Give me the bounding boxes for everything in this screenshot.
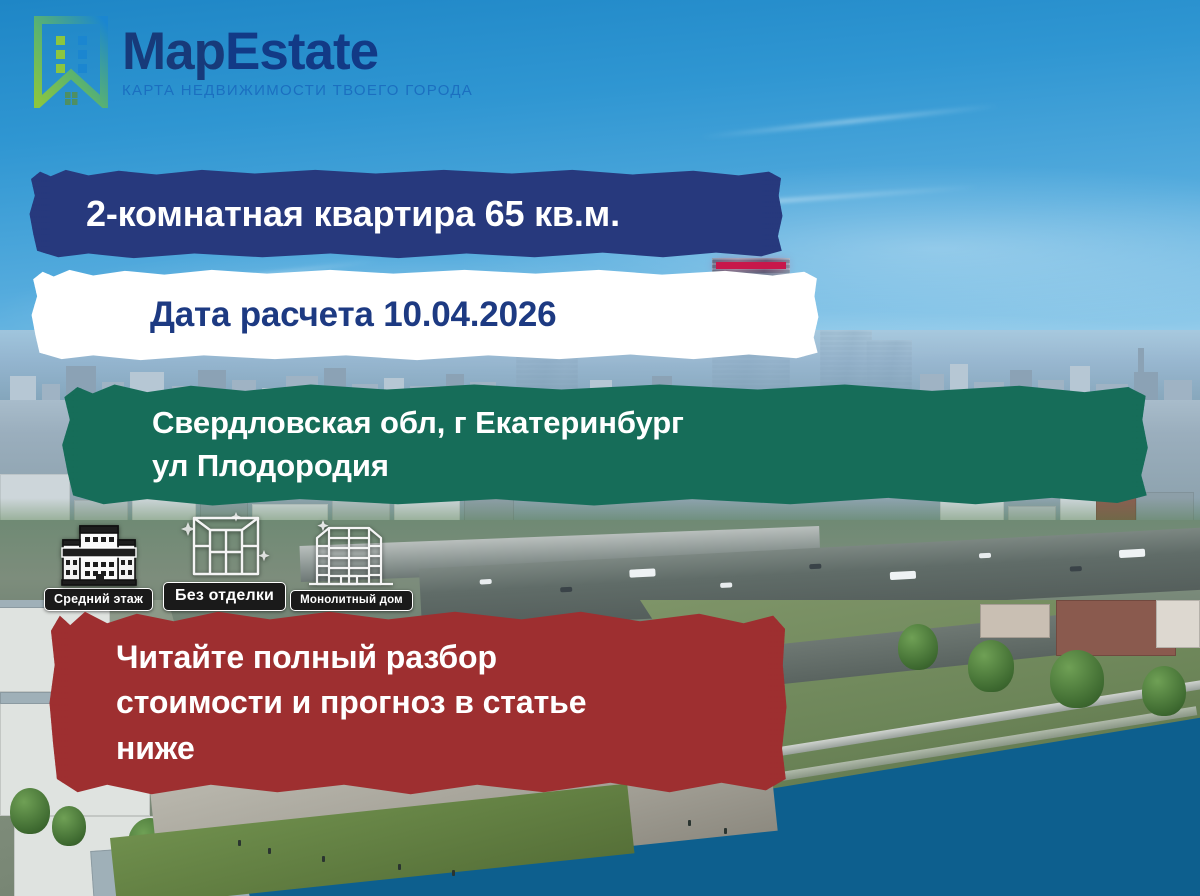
cta-line-3: ниже xyxy=(116,726,788,771)
badge-label-bare-shell: Без отделки xyxy=(163,582,286,611)
bookmark-building-icon xyxy=(34,16,108,108)
brand-name-part2: Estate xyxy=(225,22,378,81)
embankment-tree-4 xyxy=(898,624,938,670)
riverside-building xyxy=(980,604,1050,638)
address-line-2: ул Плодородия xyxy=(152,445,1150,488)
title-text: 2-комнатная квартира 65 кв.м. xyxy=(28,193,784,235)
address-text: Свердловская обл, г Екатеринбург ул Плод… xyxy=(60,402,1150,488)
date-banner: Дата расчета 10.04.2026 xyxy=(30,268,820,362)
address-banner: Свердловская обл, г Екатеринбург ул Плод… xyxy=(60,382,1150,508)
monolithic-building-icon xyxy=(303,518,399,594)
white-apartment-block xyxy=(1156,600,1200,648)
cta-text: Читайте полный разбор стоимости и прогно… xyxy=(48,635,788,771)
cta-line-2: стоимости и прогноз в статье xyxy=(116,680,788,725)
property-badges: Средний этаж Без отделк xyxy=(44,506,413,611)
badge-mid-floor[interactable]: Средний этаж xyxy=(44,518,153,611)
address-line-1: Свердловская обл, г Екатеринбург xyxy=(152,402,1150,445)
badge-monolithic[interactable]: Монолитный дом xyxy=(290,518,413,611)
embankment-tree-3 xyxy=(1142,666,1186,716)
listing-poster: MapEstate КАРТА НЕДВИЖИМОСТИ ТВОЕГО ГОРО… xyxy=(0,0,1200,896)
brand-tagline: КАРТА НЕДВИЖИМОСТИ ТВОЕГО ГОРОДА xyxy=(122,82,473,99)
badge-bare-shell[interactable]: Без отделки xyxy=(163,506,286,611)
brand-logo[interactable]: MapEstate КАРТА НЕДВИЖИМОСТИ ТВОЕГО ГОРО… xyxy=(34,16,473,108)
brand-name: MapEstate xyxy=(122,25,473,79)
embankment-tree xyxy=(968,640,1014,692)
brand-name-part1: Map xyxy=(122,22,225,81)
cta-banner[interactable]: Читайте полный разбор стоимости и прогно… xyxy=(48,608,788,798)
calculation-date-text: Дата расчета 10.04.2026 xyxy=(30,295,820,335)
embankment-tree-2 xyxy=(1050,650,1104,708)
bare-shell-room-icon xyxy=(180,506,270,586)
title-banner: 2-комнатная квартира 65 кв.м. xyxy=(28,168,784,260)
brand-text: MapEstate КАРТА НЕДВИЖИМОСТИ ТВОЕГО ГОРО… xyxy=(122,25,473,98)
cta-line-1: Читайте полный разбор xyxy=(116,635,788,680)
mid-floor-building-icon xyxy=(60,518,138,592)
